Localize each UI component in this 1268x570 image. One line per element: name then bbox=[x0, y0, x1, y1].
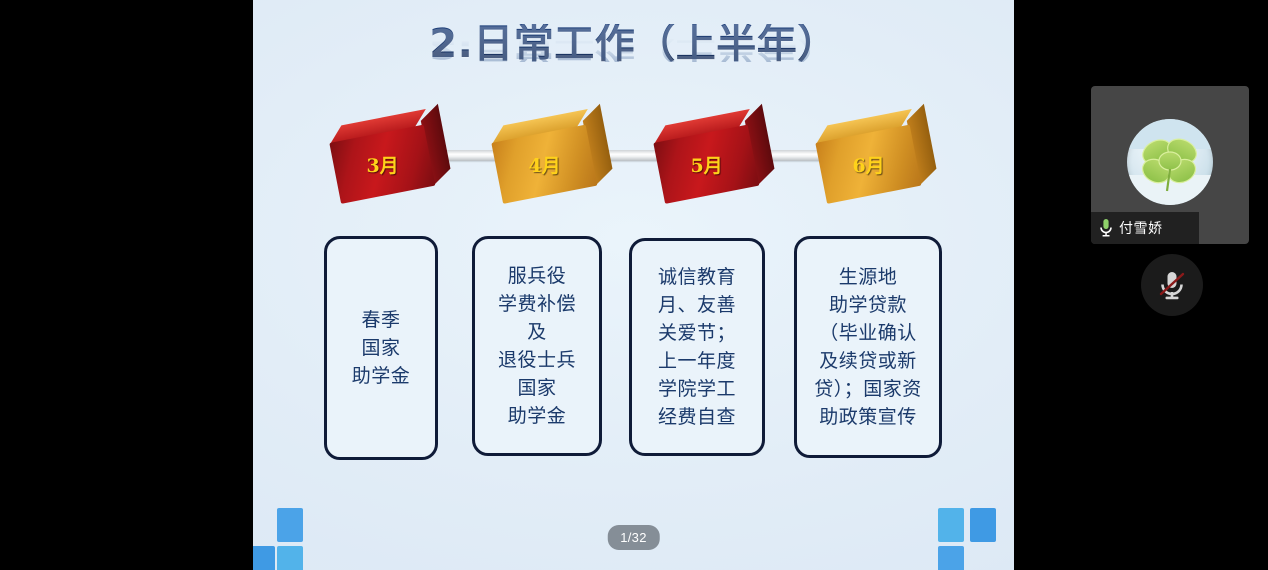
content-box-2: 服兵役 学费补偿 及 退役士兵 国家 助学金 bbox=[472, 236, 602, 456]
timeline-cube-4: 6月 bbox=[812, 109, 925, 205]
content-box-text: 服兵役 学费补偿 及 退役士兵 国家 助学金 bbox=[498, 262, 576, 431]
avatar bbox=[1127, 119, 1213, 205]
mute-toggle-button[interactable] bbox=[1141, 254, 1203, 316]
page-indicator: 1/32 bbox=[607, 525, 660, 550]
decoration-square-br-2 bbox=[970, 508, 996, 542]
decoration-square-bl-2 bbox=[253, 546, 275, 570]
decoration-square-bl-1 bbox=[277, 508, 303, 542]
content-box-text: 春季 国家 助学金 bbox=[352, 306, 411, 390]
timeline-cube-1: 3月 bbox=[326, 109, 439, 205]
timeline-month-label: 6月 bbox=[852, 151, 884, 178]
participant-name: 付雪娇 bbox=[1119, 218, 1163, 238]
timeline-cube-2: 4月 bbox=[488, 109, 601, 205]
content-box-text: 诚信教育 月、友善 关爱节； 上一年度 学院学工 经费自查 bbox=[658, 263, 736, 432]
page-title: 2.日常工作（上半年） bbox=[429, 24, 838, 64]
screen-root: 2.日常工作（上半年） 2.日常工作（上半年） 3月 4月 bbox=[0, 0, 1268, 570]
content-box-3: 诚信教育 月、友善 关爱节； 上一年度 学院学工 经费自查 bbox=[629, 238, 765, 456]
content-box-1: 春季 国家 助学金 bbox=[324, 236, 438, 460]
presentation-slide[interactable]: 2.日常工作（上半年） 2.日常工作（上半年） 3月 4月 bbox=[253, 0, 1014, 570]
timeline-cube-3: 5月 bbox=[650, 109, 763, 205]
participant-name-strip: 付雪娇 bbox=[1091, 212, 1199, 244]
microphone-muted-icon bbox=[1156, 268, 1188, 302]
microphone-icon bbox=[1099, 218, 1113, 238]
timeline-month-label: 5月 bbox=[690, 151, 722, 178]
content-box-text: 生源地 助学贷款 （毕业确认 及续贷或新 贷）；国家资 助政策宣传 bbox=[814, 263, 922, 432]
clover-avatar-icon bbox=[1127, 119, 1213, 205]
decoration-square-bl-3 bbox=[277, 546, 303, 570]
content-box-4: 生源地 助学贷款 （毕业确认 及续贷或新 贷）；国家资 助政策宣传 bbox=[794, 236, 942, 458]
slide-title-reflection: 2.日常工作（上半年） bbox=[253, 62, 1014, 102]
slide-title-container: 2.日常工作（上半年） bbox=[253, 24, 1014, 64]
decoration-square-br-3 bbox=[938, 546, 964, 570]
participant-video-tile[interactable]: 付雪娇 bbox=[1091, 86, 1249, 244]
decoration-square-br-1 bbox=[938, 508, 964, 542]
timeline-month-label: 3月 bbox=[366, 151, 398, 178]
timeline-month-label: 4月 bbox=[528, 151, 560, 178]
